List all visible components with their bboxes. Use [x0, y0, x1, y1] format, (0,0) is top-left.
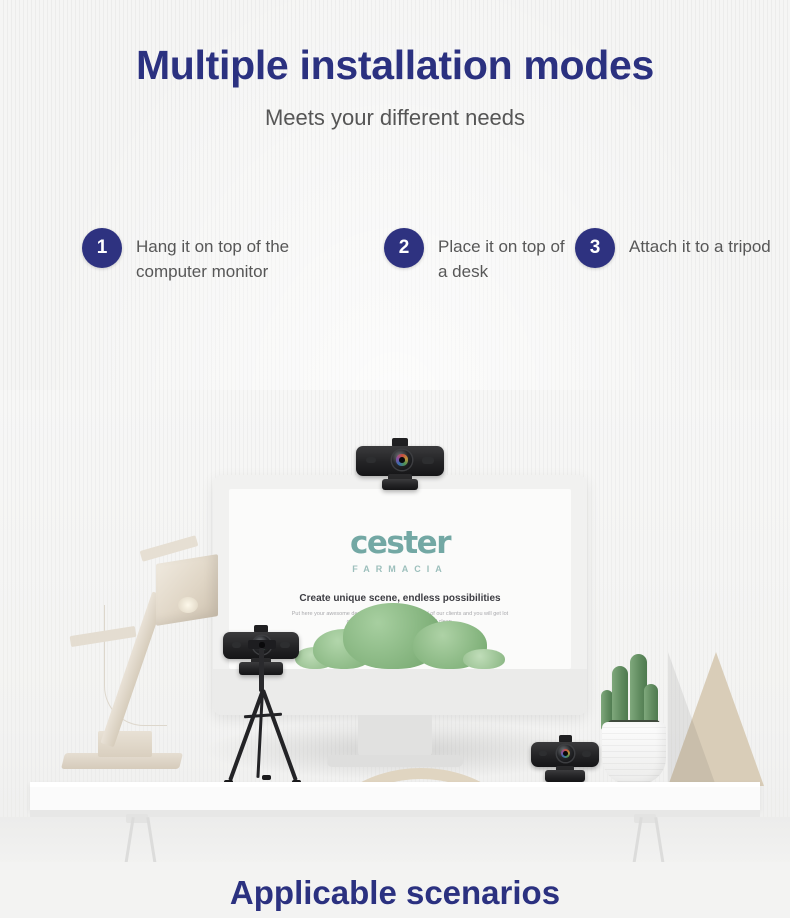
lifestyle-photo-scene: cester FARMACIA Create unique scene, end… [0, 390, 790, 865]
white-ceramic-pot [602, 722, 666, 784]
step-number-badge-3: 3 [575, 228, 615, 268]
lamp-bulb [178, 597, 198, 613]
product-marketing-page: Multiple installation modes Meets your d… [0, 0, 790, 918]
cactus-plant [598, 648, 670, 786]
step-number-badge-2: 2 [384, 228, 424, 268]
tree-foliage [463, 649, 505, 669]
step-label-2: Place it on top of a desk [438, 228, 574, 284]
webcam-microphone [366, 457, 376, 463]
lamp-shade [156, 554, 218, 626]
floor [0, 817, 790, 865]
screen-logo: cester FARMACIA [229, 525, 571, 574]
step-label-1: Hang it on top of the computer monitor [136, 228, 297, 284]
desk-leg-plate [126, 814, 148, 823]
camera-tripod [226, 656, 296, 784]
monitor-stand-base [327, 755, 463, 767]
webcam-on-desk [531, 735, 599, 780]
webcam-lens [557, 745, 574, 762]
webcam-microphone [422, 457, 434, 464]
white-desk-top [30, 782, 760, 810]
desk-leg-plate [634, 814, 656, 823]
webcam-stand-foot [545, 770, 585, 782]
webcam-on-monitor [356, 438, 444, 490]
installation-step-1: 1 Hang it on top of the computer monitor [82, 228, 297, 284]
tripod-brace [244, 713, 282, 719]
page-headline: Multiple installation modes [0, 42, 790, 89]
step-label-3: Attach it to a tripod [629, 228, 771, 259]
pyramid-shading [668, 652, 716, 786]
webcam-microphone [280, 642, 290, 648]
tripod-foot [262, 775, 271, 780]
tripod-center-column [259, 648, 264, 692]
monitor-stand-neck [358, 715, 432, 757]
webcam-microphone [539, 751, 547, 756]
installation-step-3: 3 Attach it to a tripod [575, 228, 790, 268]
webcam-microphone [582, 751, 591, 757]
webcam-mount-foot [382, 479, 418, 490]
wooden-desk-lamp [60, 535, 230, 785]
bottom-banner: Applicable scenarios [0, 862, 790, 918]
screen-tree-image [295, 591, 505, 669]
pot-ribbing [602, 722, 666, 784]
page-subheadline: Meets your different needs [0, 105, 790, 131]
screen-logo-word: cester [229, 525, 571, 561]
webcam-lens [392, 450, 412, 470]
bottom-banner-text: Applicable scenarios [0, 874, 790, 912]
webcam-microphone [232, 642, 241, 648]
tripod-leg [261, 689, 298, 781]
screen-logo-subtitle: FARMACIA [229, 564, 571, 574]
installation-step-2: 2 Place it on top of a desk [384, 228, 574, 284]
step-number-badge-1: 1 [82, 228, 122, 268]
